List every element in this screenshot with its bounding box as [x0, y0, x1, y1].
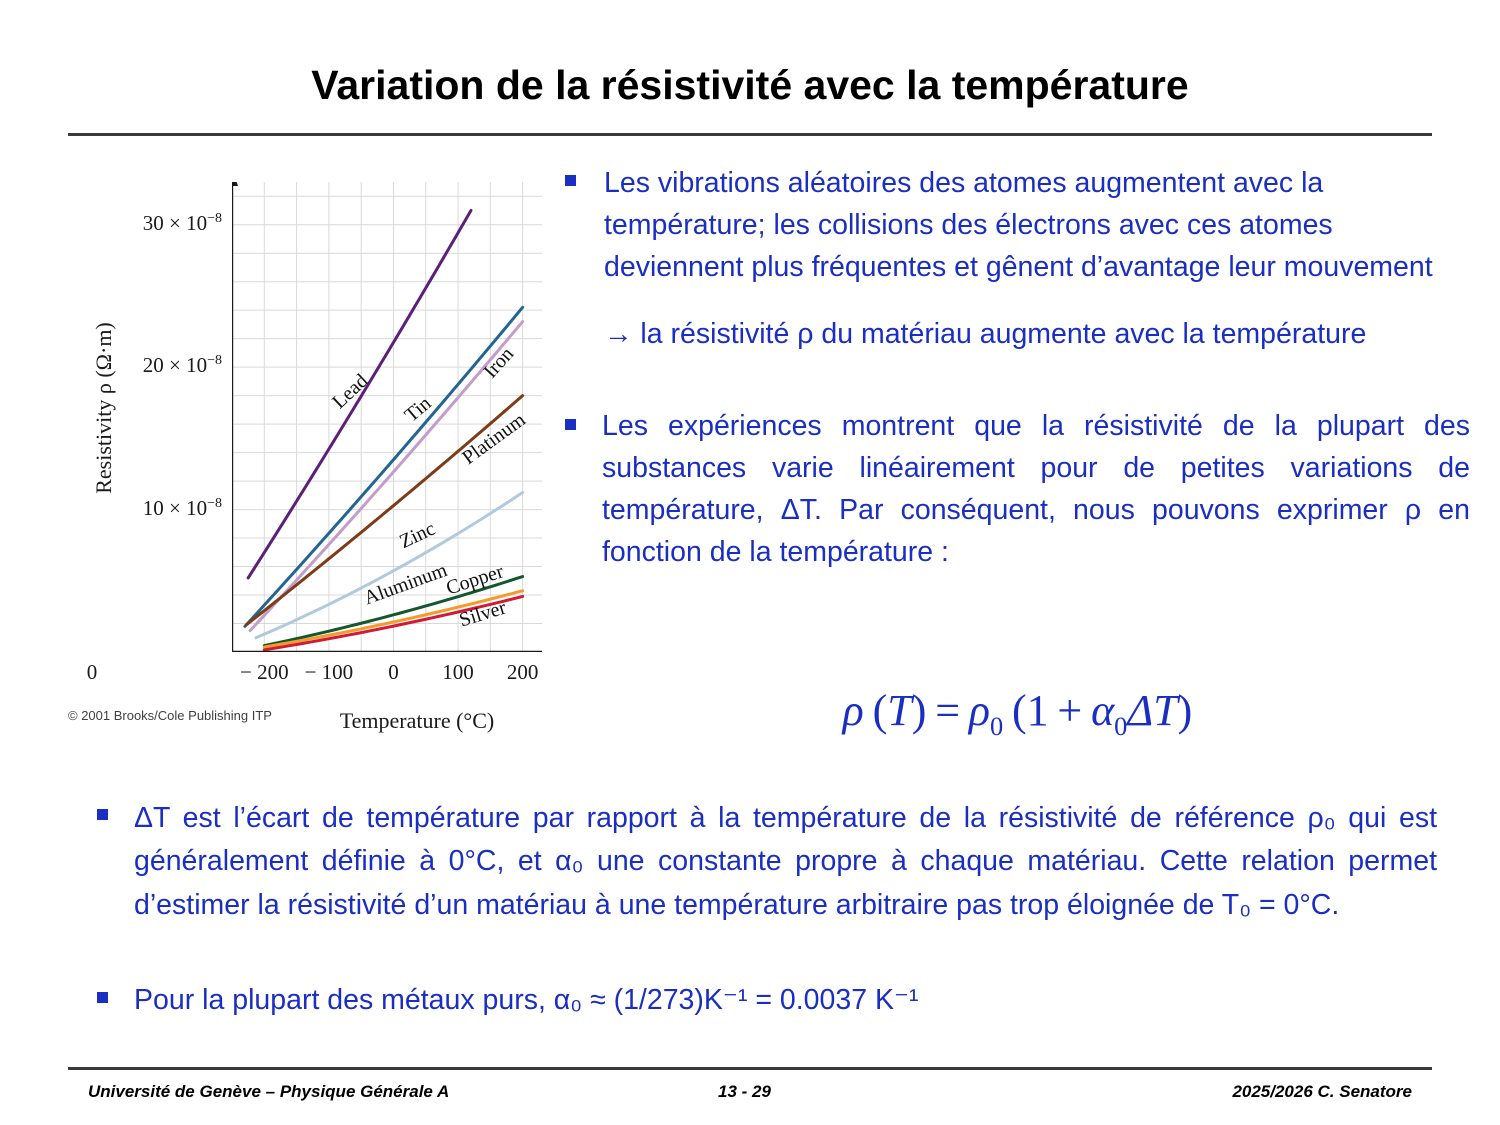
formula-group-close: ) — [1178, 686, 1193, 735]
consequence-line: → la résistivité ρ du matériau augmente … — [604, 315, 1470, 355]
y-tick-label-20: 20 × 10−8 — [143, 353, 222, 378]
footer-course: Université de Genève – Physique Générale… — [88, 1082, 449, 1102]
resistivity-formula: ρ (T) = ρ0 (1 + α0ΔT) — [565, 685, 1470, 742]
bullet-item-3: ΔT est l’écart de température par rappor… — [97, 797, 1437, 927]
formula-alpha0: α0 — [1091, 686, 1127, 735]
bullet-3-text: ΔT est l’écart de température par rappor… — [134, 797, 1437, 927]
bullet-square-icon — [565, 175, 576, 186]
formula-T: T — [887, 686, 911, 735]
bullet-square-icon — [565, 419, 576, 430]
y-tick-label-30: 30 × 10−8 — [143, 211, 222, 236]
page-title: Variation de la résistivité avec la temp… — [0, 62, 1500, 109]
slide-root: Variation de la résistivité avec la temp… — [0, 0, 1500, 1125]
formula-paren-close: ) — [912, 686, 927, 735]
title-divider — [68, 133, 1432, 136]
y-tick-label-10: 10 × 10−8 — [143, 496, 222, 521]
chart-y-axis-label: Resistivity ρ (Ω·m) — [91, 258, 117, 558]
x-tick-label-0: 0 — [388, 660, 399, 685]
formula-equals: = — [926, 686, 968, 735]
formula-deltaT: ΔT — [1127, 686, 1177, 735]
bullet-square-icon — [97, 809, 108, 820]
footer-page-number: 13 - 29 — [718, 1082, 771, 1102]
formula-rho0: ρ0 — [969, 686, 1003, 735]
x-tick-label-200: 200 — [507, 660, 539, 685]
footer-divider — [68, 1067, 1432, 1070]
bottom-text-column: ΔT est l’écart de température par rappor… — [97, 797, 1437, 1022]
x-tick-label--200: − 200 — [240, 660, 289, 685]
footer-author: 2025/2026 C. Senatore — [1232, 1082, 1412, 1102]
bullet-item-2: Les expériences montrent que la résistiv… — [565, 406, 1470, 574]
bullet-item-1: Les vibrations aléatoires des atomes aug… — [565, 162, 1470, 289]
formula-group-open: (1 + — [1003, 686, 1091, 735]
y-axis-label-text: Resistivity ρ (Ω·m) — [91, 322, 116, 494]
formula-rho: ρ — [843, 686, 864, 735]
right-text-column: Les vibrations aléatoires des atomes aug… — [565, 162, 1470, 574]
bullet-4-text: Pour la plupart des métaux purs, α₀ ≈ (1… — [134, 979, 919, 1022]
resistivity-chart: Resistivity ρ (Ω·m) 10 × 10−820 × 10−830… — [72, 160, 557, 750]
x-tick-label--100: − 100 — [305, 660, 354, 685]
chart-x-axis-label: Temperature (°C) — [267, 708, 567, 734]
bullet-square-icon — [97, 992, 108, 1003]
bullet-item-4: Pour la plupart des métaux purs, α₀ ≈ (1… — [97, 979, 1437, 1022]
chart-credit: © 2001 Brooks/Cole Publishing ITP — [68, 708, 272, 723]
bullet-2-text: Les expériences montrent que la résistiv… — [602, 406, 1470, 574]
bullet-1-text: Les vibrations aléatoires des atomes aug… — [604, 162, 1470, 289]
x-tick-label-100: 100 — [442, 660, 474, 685]
chart-origin-label: 0 — [87, 660, 98, 685]
formula-paren-open: ( — [864, 686, 887, 735]
